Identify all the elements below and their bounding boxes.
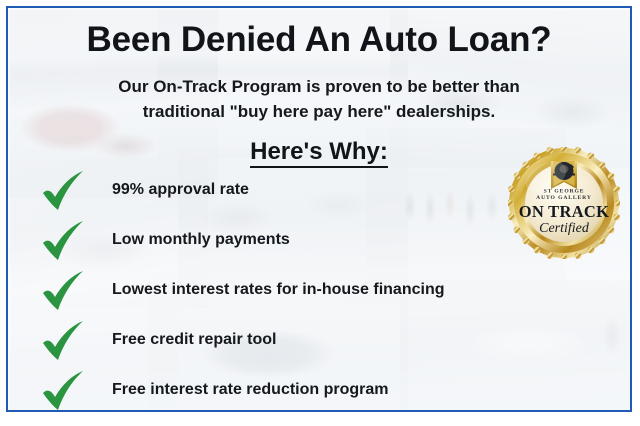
list-item: Lowest interest rates for in-house finan… <box>34 269 554 319</box>
green-check-icon <box>40 321 86 365</box>
list-item: Low monthly payments <box>34 219 554 269</box>
list-item: Free interest rate reduction program <box>34 369 554 412</box>
green-check-icon <box>40 271 86 315</box>
seal-program-text: ON TRACK <box>519 202 610 221</box>
advertisement-banner: Been Denied An Auto Loan? Our On-Track P… <box>0 0 640 426</box>
list-item: Free credit repair tool <box>34 319 554 369</box>
subheadline-line-2: traditional "buy here pay here" dealersh… <box>8 99 630 124</box>
seal-brand-line-2: AUTO GALLERY <box>536 195 592 201</box>
gold-certification-seal-icon: ST GEORGE AUTO GALLERY ON TRACK Certifie… <box>508 147 620 259</box>
seal-status-text: Certified <box>539 221 590 236</box>
benefit-label: Low monthly payments <box>112 231 290 249</box>
list-item: 99% approval rate <box>34 169 554 219</box>
ad-content: Been Denied An Auto Loan? Our On-Track P… <box>8 8 630 410</box>
page-title: Been Denied An Auto Loan? <box>8 20 630 60</box>
ad-frame: Been Denied An Auto Loan? Our On-Track P… <box>6 6 632 412</box>
benefits-list: 99% approval rate Low monthly payments <box>34 169 554 412</box>
green-check-icon <box>40 171 86 215</box>
subheadline-line-1: Our On-Track Program is proven to be bet… <box>8 74 630 99</box>
benefit-label: 99% approval rate <box>112 181 249 199</box>
section-heading-text: Here's Why: <box>250 138 388 168</box>
green-check-icon <box>40 371 86 412</box>
green-check-icon <box>40 221 86 265</box>
benefit-label: Free interest rate reduction program <box>112 381 389 399</box>
benefit-label: Free credit repair tool <box>112 331 277 349</box>
subheadline: Our On-Track Program is proven to be bet… <box>8 74 630 124</box>
benefit-label: Lowest interest rates for in-house finan… <box>112 281 445 299</box>
